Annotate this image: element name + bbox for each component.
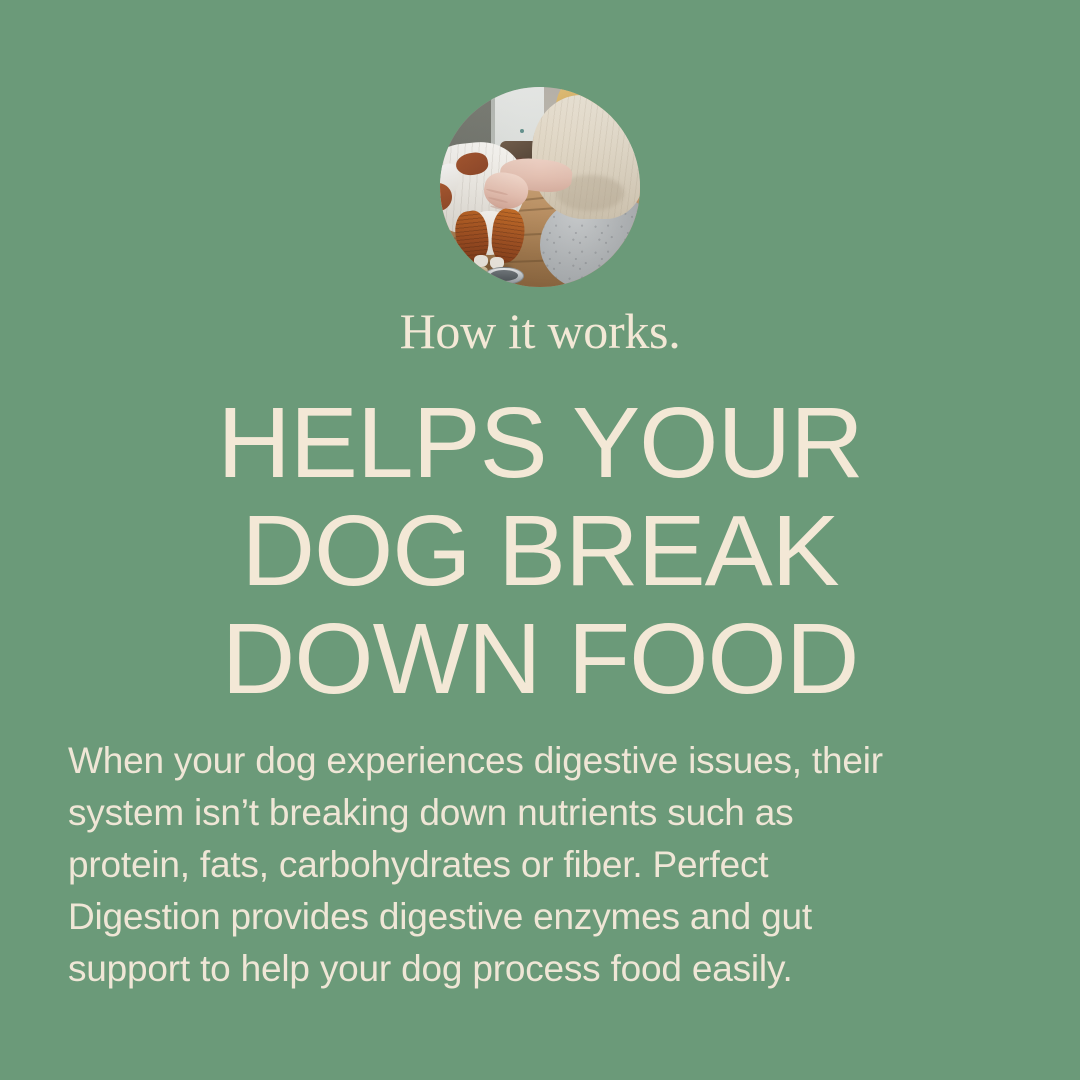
promo-poster: How it works. HELPS YOUR DOG BREAK DOWN … <box>0 0 1080 1080</box>
hero-circle-photo <box>440 87 640 287</box>
dog-food-bowl-inner <box>490 270 518 281</box>
body-paragraph: When your dog experiences digestive issu… <box>68 735 998 995</box>
body-line-4: Digestion provides digestive enzymes and… <box>68 891 998 943</box>
body-line-1: When your dog experiences digestive issu… <box>68 735 998 787</box>
page-title: HELPS YOUR DOG BREAK DOWN FOOD <box>0 389 1080 713</box>
headline-line-2: DOG BREAK <box>0 497 1080 605</box>
body-line-3: protein, fats, carbohydrates or fiber. P… <box>68 839 998 891</box>
eyebrow-text: How it works. <box>0 306 1080 356</box>
dog-paw <box>474 255 488 267</box>
body-line-2: system isn’t breaking down nutrients suc… <box>68 787 998 839</box>
cabinet-handle <box>520 129 524 133</box>
headline-line-3: DOWN FOOD <box>0 605 1080 713</box>
body-line-5: support to help your dog process food ea… <box>68 943 998 995</box>
photo-scene <box>440 87 640 287</box>
headline-line-1: HELPS YOUR <box>0 389 1080 497</box>
